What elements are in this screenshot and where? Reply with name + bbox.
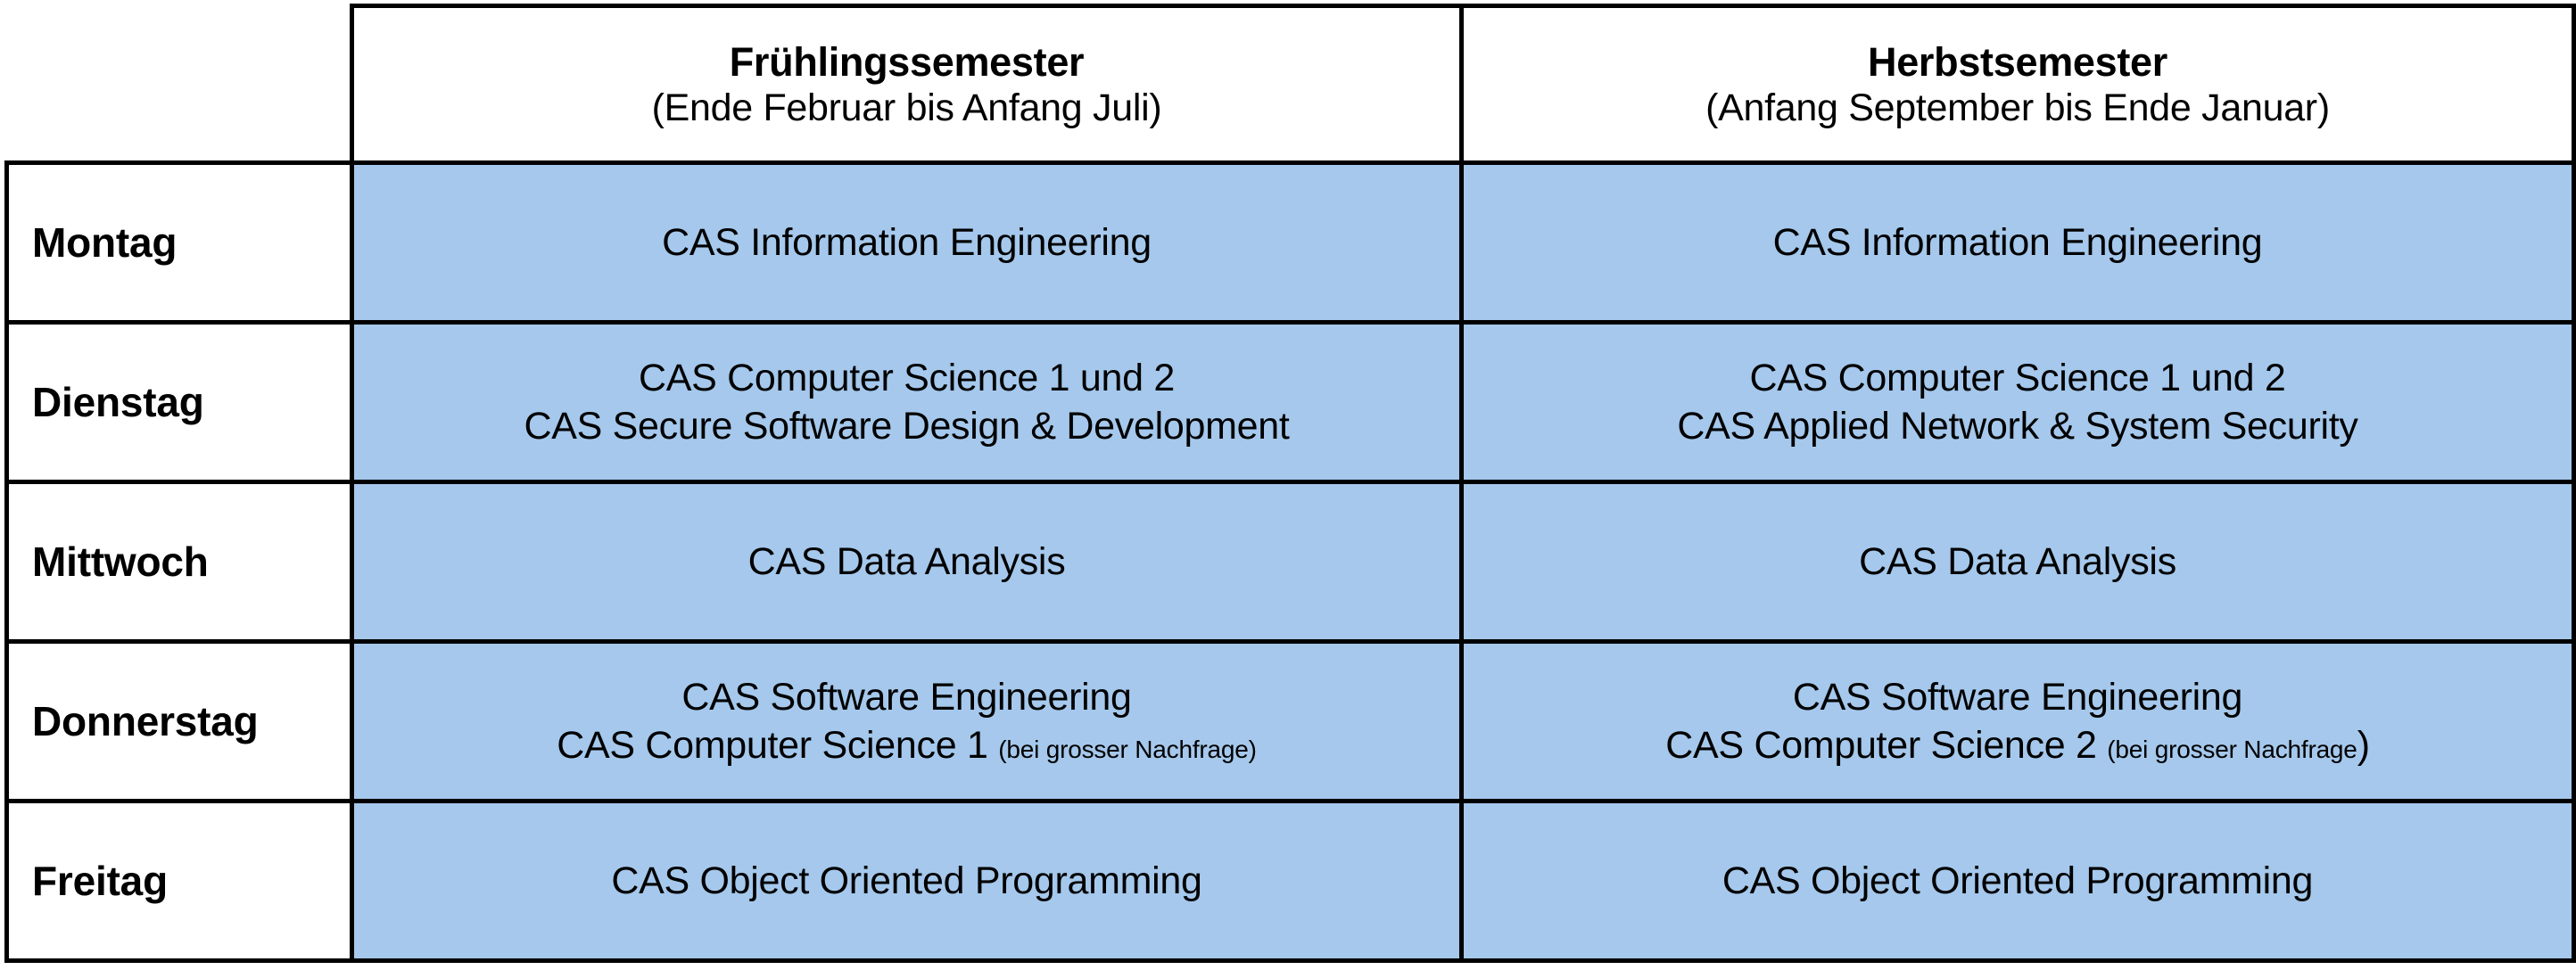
table-row: FreitagCAS Object Oriented ProgrammingCA… (7, 801, 2574, 961)
course-line: CAS Information Engineering (1476, 218, 2559, 267)
schedule-container: Frühlingssemester (Ende Februar bis Anfa… (0, 4, 2576, 970)
course-line: CAS Computer Science 1 und 2 (1476, 354, 2559, 402)
course-line: CAS Software Engineering (367, 673, 1447, 721)
course-cell-spring: CAS Information Engineering (352, 163, 1462, 323)
column-header-autumn: Herbstsemester (Anfang September bis End… (1462, 6, 2574, 163)
course-cell-spring: CAS Computer Science 1 und 2CAS Secure S… (352, 323, 1462, 482)
course-note-close-paren: ) (2357, 724, 2370, 767)
table-body: MontagCAS Information EngineeringCAS Inf… (7, 163, 2574, 961)
course-cell-spring: CAS Data Analysis (352, 482, 1462, 642)
course-line: CAS Object Oriented Programming (1476, 857, 2559, 905)
course-cell-autumn: CAS Information Engineering (1462, 163, 2574, 323)
course-cell-autumn: CAS Object Oriented Programming (1462, 801, 2574, 961)
course-title: CAS Information Engineering (662, 221, 1152, 264)
course-line: CAS Software Engineering (1476, 673, 2559, 721)
day-label-cell: Dienstag (7, 323, 352, 482)
day-label-cell: Donnerstag (7, 642, 352, 801)
column-header-autumn-title: Herbstsemester (1473, 38, 2563, 86)
course-cell-autumn: CAS Computer Science 1 und 2CAS Applied … (1462, 323, 2574, 482)
table-row: DienstagCAS Computer Science 1 und 2CAS … (7, 323, 2574, 482)
course-line: CAS Applied Network & System Security (1476, 402, 2559, 450)
day-label-cell: Freitag (7, 801, 352, 961)
course-title: CAS Data Analysis (1859, 540, 2176, 583)
course-cell-spring: CAS Object Oriented Programming (352, 801, 1462, 961)
course-title: CAS Computer Science 1 und 2 (639, 357, 1175, 399)
course-line: CAS Object Oriented Programming (367, 857, 1447, 905)
course-title: CAS Secure Software Design & Development (524, 405, 1290, 448)
course-title: CAS Software Engineering (681, 676, 1131, 719)
column-header-spring-range: (Ende Februar bis Anfang Juli) (363, 86, 1450, 131)
table-row: MittwochCAS Data AnalysisCAS Data Analys… (7, 482, 2574, 642)
course-cell-spring: CAS Software EngineeringCAS Computer Sci… (352, 642, 1462, 801)
course-line: CAS Computer Science 1 (bei grosser Nach… (367, 721, 1447, 769)
column-header-spring: Frühlingssemester (Ende Februar bis Anfa… (352, 6, 1462, 163)
course-title: CAS Computer Science 1 und 2 (1749, 357, 2285, 399)
course-line: CAS Computer Science 1 und 2 (367, 354, 1447, 402)
course-title: CAS Computer Science 1 (557, 724, 998, 767)
corner-cell (7, 6, 352, 163)
semester-schedule-table: Frühlingssemester (Ende Februar bis Anfa… (4, 4, 2576, 963)
column-header-spring-title: Frühlingssemester (363, 38, 1450, 86)
course-line: CAS Data Analysis (1476, 538, 2559, 586)
course-title: CAS Computer Science 2 (1665, 724, 2107, 767)
course-cell-autumn: CAS Software EngineeringCAS Computer Sci… (1462, 642, 2574, 801)
course-line: CAS Computer Science 2 (bei grosser Nach… (1476, 721, 2559, 769)
day-label-cell: Montag (7, 163, 352, 323)
course-title: CAS Data Analysis (748, 540, 1066, 583)
course-cell-autumn: CAS Data Analysis (1462, 482, 2574, 642)
header-row: Frühlingssemester (Ende Februar bis Anfa… (7, 6, 2574, 163)
table-header: Frühlingssemester (Ende Februar bis Anfa… (7, 6, 2574, 163)
course-title: CAS Applied Network & System Security (1677, 405, 2357, 448)
course-line: CAS Data Analysis (367, 538, 1447, 586)
day-label-cell: Mittwoch (7, 482, 352, 642)
column-header-autumn-range: (Anfang September bis Ende Januar) (1473, 86, 2563, 131)
course-note: (bei grosser Nachfrage (2107, 736, 2357, 763)
course-title: CAS Object Oriented Programming (611, 859, 1201, 902)
course-title: CAS Information Engineering (1773, 221, 2263, 264)
table-row: DonnerstagCAS Software EngineeringCAS Co… (7, 642, 2574, 801)
course-note: (bei grosser Nachfrage) (998, 736, 1257, 763)
course-title: CAS Software Engineering (1793, 676, 2242, 719)
course-title: CAS Object Oriented Programming (1722, 859, 2313, 902)
course-line: CAS Information Engineering (367, 218, 1447, 267)
table-row: MontagCAS Information EngineeringCAS Inf… (7, 163, 2574, 323)
course-line: CAS Secure Software Design & Development (367, 402, 1447, 450)
